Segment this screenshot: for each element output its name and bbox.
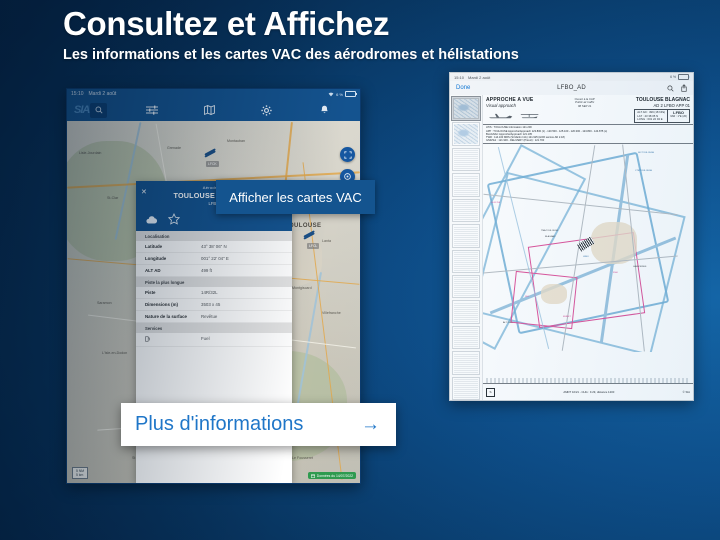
thumbnail-page[interactable]: [452, 300, 480, 323]
thumbnail-page[interactable]: [452, 377, 480, 400]
vac-chart-notes: Ouvert à la CAP Public air traffic 08 SE…: [575, 97, 595, 108]
helicopter-icon: [520, 113, 540, 120]
map-label: Lisle-Jourdain: [79, 151, 101, 155]
map-label: St-Clar: [107, 196, 118, 200]
row-key: Dimensions (m): [145, 302, 201, 307]
map-label: Montauban: [227, 139, 245, 143]
fullscreen-button[interactable]: [340, 147, 355, 162]
section-title: Localisation: [136, 231, 292, 241]
runway-label: LFCK: [206, 161, 219, 167]
search-icon[interactable]: [667, 79, 674, 97]
search-icon[interactable]: [90, 103, 107, 118]
aerodrome-actions: [136, 211, 292, 231]
thumbnail-page[interactable]: [452, 122, 480, 145]
vac-footer-center: AMDT 10/21 - CHG : F.29, distance 1200: [563, 390, 614, 394]
vac-info-box: ALT AD : 499 (18 hPa) LAT : 43 38 05 N L…: [634, 109, 690, 123]
right-status-bar: 15:10 Mardi 2 août 6 %: [450, 73, 693, 81]
airplane-icon: [488, 113, 514, 120]
status-date: Mardi 2 août: [468, 75, 490, 80]
row-value: 499 ft: [201, 268, 212, 273]
map-label: Montgiscard: [292, 286, 312, 290]
sia-logo: SIA: [74, 104, 89, 116]
scalebar-sublabel: 5 km: [76, 473, 84, 477]
map-label: Lanta: [322, 239, 331, 243]
thumbnail-page[interactable]: [452, 250, 480, 273]
data-version-label: Données du 14/07/2022: [317, 474, 353, 478]
urban-area: [541, 284, 567, 304]
thumbnail-page[interactable]: [452, 351, 480, 374]
page-subtitle: Les informations et les cartes VAC des a…: [63, 45, 519, 65]
close-icon[interactable]: ✕: [141, 189, 147, 196]
thumbnail-page[interactable]: [452, 224, 480, 247]
vac-chart-identity: TOULOUSE BLAGNAC AD 2 LFBO APP 01: [636, 97, 690, 108]
row-key: Piste: [145, 290, 201, 295]
row-key: Longitude: [145, 256, 201, 261]
navbar-icons: [667, 79, 687, 97]
map-icon[interactable]: [197, 101, 221, 119]
thumbnail-page[interactable]: [452, 199, 480, 222]
document-body: APPROCHE A VUEVisual approach Ouvert à l…: [450, 95, 693, 400]
app-toolbar: SIA: [67, 99, 360, 121]
map-label: L'Isle-en-Dodon: [102, 351, 127, 355]
thumbnail-page[interactable]: [452, 148, 480, 171]
vac-chart-title: APPROCHE A VUEVisual approach: [486, 97, 533, 108]
slide-root: Consultez et Affichez Les informations e…: [0, 0, 720, 540]
fuel-icon: [145, 336, 201, 343]
vac-chart-id: AD 2 LFBO APP 01: [636, 103, 690, 108]
map-label: Le Fousseret: [292, 456, 313, 460]
right-tablet-screenshot: 15:10 Mardi 2 août 6 % Done LFBO_AD: [449, 72, 694, 401]
vac-chart-header: APPROCHE A VUEVisual approach Ouvert à l…: [483, 95, 693, 125]
row-key: Latitude: [145, 244, 201, 249]
map-label: Saramon: [97, 301, 112, 305]
vac-chart-subtitle: Visual approach: [486, 103, 533, 108]
left-status-bar: 15:10 Mardi 2 août 6 %: [67, 89, 360, 99]
aerodrome-detail-rows: Localisation Latitude 43° 38' 06" N Long…: [136, 231, 292, 347]
section-title: Piste la plus longue: [136, 277, 292, 287]
more-info-button[interactable]: Plus d'informations →: [121, 403, 396, 446]
runway-symbol: [303, 231, 315, 238]
weather-icon[interactable]: [145, 212, 158, 230]
row-key: Nature de la surface: [145, 314, 201, 319]
data-version-badge: Données du 14/07/2022: [308, 472, 356, 479]
row-value: Revêtue: [201, 314, 217, 319]
thumbnail-page[interactable]: [452, 173, 480, 196]
vac-footer-right: © SIA: [683, 390, 690, 394]
table-row: Fuel: [136, 333, 292, 347]
vac-var: VAR : 1°E (20): [670, 115, 687, 119]
section-title: Services: [136, 323, 292, 333]
row-value: 001° 22' 04" E: [201, 256, 229, 261]
row-value: 3503 x 45: [201, 302, 220, 307]
status-date: Mardi 2 août: [89, 91, 117, 97]
status-time: 15:10: [71, 91, 84, 97]
row-value: 43° 38' 06" N: [201, 244, 227, 249]
runway-label: LFCL: [307, 243, 319, 249]
aircraft-silhouettes: [486, 113, 540, 120]
battery-icon: [345, 91, 356, 98]
status-time: 15:10: [454, 75, 464, 80]
vac-chart-footer: S AMDT 10/21 - CHG : F.29, distance 1200…: [483, 383, 693, 400]
document-navbar: Done LFBO_AD: [450, 81, 693, 96]
table-row: Longitude 001° 22' 04" E: [136, 253, 292, 265]
vac-tooltip-label: Afficher les cartes VAC: [229, 190, 361, 205]
row-value: Fuel: [201, 336, 210, 343]
table-row: Piste 14R/32L: [136, 287, 292, 299]
arrow-right-icon: →: [361, 415, 380, 434]
runway-symbol: [204, 149, 216, 156]
toolbar-icon-group: [107, 101, 353, 119]
share-icon[interactable]: [681, 79, 687, 97]
filters-icon[interactable]: [140, 101, 164, 119]
map-label: Grenade: [167, 146, 181, 150]
table-row: Latitude 43° 38' 06" N: [136, 241, 292, 253]
vac-chart-page[interactable]: APPROCHE A VUEVisual approach Ouvert à l…: [483, 95, 693, 400]
wifi-icon: [328, 92, 334, 97]
table-row: Dimensions (m) 3503 x 45: [136, 299, 292, 311]
map-scalebar: 5 NM 5 km: [72, 467, 88, 479]
map-label: Villefranche: [322, 311, 341, 315]
favorite-star-icon[interactable]: [168, 212, 180, 230]
vac-frequencies: ATIS : TOULOUSE Information 121.200 APP …: [483, 125, 693, 144]
frequency-line: GND/Sol : 121.930 - DELIVERY (Prévol) : …: [486, 139, 690, 142]
table-row: ALT AD 499 ft: [136, 265, 292, 277]
table-row: Nature de la surface Revêtue: [136, 311, 292, 323]
title-block: Consultez et Affichez Les informations e…: [63, 4, 519, 65]
vac-tooltip-callout: Afficher les cartes VAC: [216, 180, 375, 214]
thumbnail-page[interactable]: [452, 326, 480, 349]
status-indicators: 6 %: [328, 91, 356, 98]
vac-long: LONG : 001 22 04 E: [637, 118, 665, 121]
document-title: LFBO_AD: [450, 85, 693, 91]
vac-chart-graphic[interactable]: CTR TOULOUSE LF-R 256 TMA TOULOUSE BLAGN…: [483, 144, 693, 352]
vac-note-3: 08 SEP 21: [575, 105, 595, 108]
row-value: 14R/32L: [201, 290, 218, 295]
thumbnail-page[interactable]: [452, 97, 480, 120]
more-info-label: Plus d'informations: [135, 413, 303, 436]
page-thumbnail-sidebar[interactable]: [450, 95, 483, 400]
thumbnail-page[interactable]: [452, 275, 480, 298]
row-key: ALT AD: [145, 268, 201, 273]
notifications-icon[interactable]: [312, 101, 336, 119]
page-title: Consultez et Affichez: [63, 4, 519, 44]
settings-icon[interactable]: [255, 101, 279, 119]
status-battery-level: 6 %: [336, 92, 343, 97]
sia-logo-icon: S: [486, 388, 495, 397]
calendar-icon: [311, 474, 315, 478]
